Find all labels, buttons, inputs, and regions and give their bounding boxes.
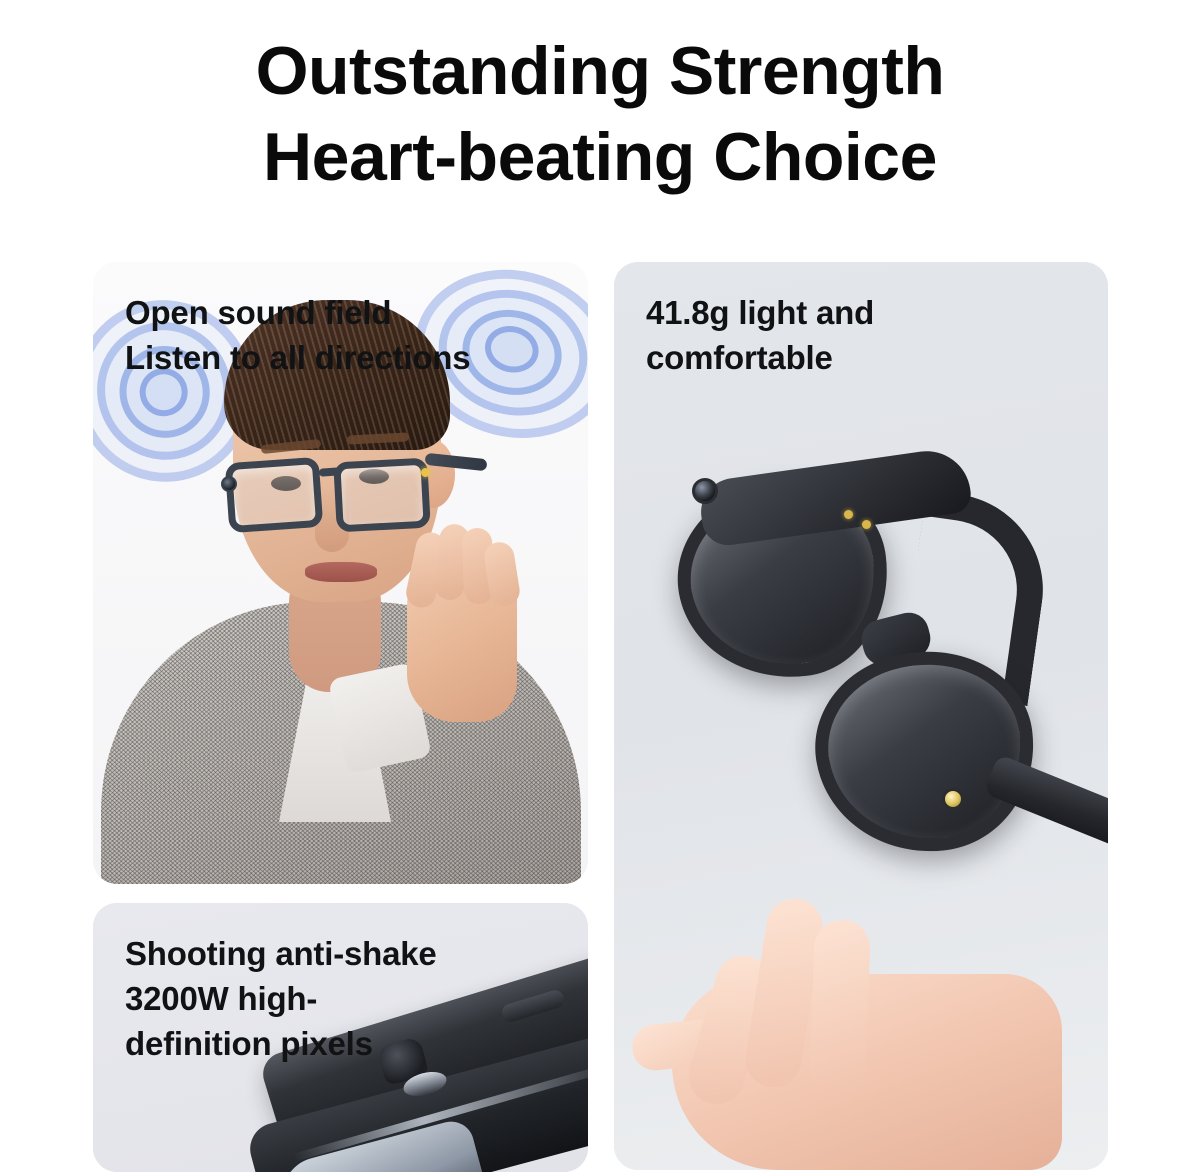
card-title-lightweight: 41.8g light and comfortable (646, 290, 874, 380)
photo-sunglasses-over-palm (614, 262, 1108, 1170)
card-title-open-sound-field: Open sound field Listen to all direction… (125, 290, 470, 380)
glasses-camera-icon (221, 476, 237, 492)
glasses-bridge (319, 467, 342, 477)
page-title: Outstanding Strength Heart-beating Choic… (0, 28, 1200, 200)
feature-card-open-sound-field[interactable]: Open sound field Listen to all direction… (93, 262, 588, 884)
open-hand-palm (616, 862, 1086, 1170)
mouth (305, 562, 377, 582)
feature-card-anti-shake[interactable]: Shooting anti-shake 3200W high- definiti… (93, 903, 588, 1172)
feature-card-lightweight[interactable]: 41.8g light and comfortable (614, 262, 1108, 1170)
sunglasses-led-indicator-icon (942, 788, 964, 810)
hand-resting-on-cheek (393, 524, 525, 724)
page-title-line-1: Outstanding Strength (0, 28, 1200, 114)
card-title-anti-shake: Shooting anti-shake 3200W high- definiti… (125, 931, 437, 1066)
glasses-temple-arm (425, 453, 488, 471)
glasses-lens-right (333, 458, 431, 533)
glasses-lens-left (225, 457, 324, 533)
sunglasses-indicator-dot-icon (862, 520, 871, 529)
product-feature-page: Outstanding Strength Heart-beating Choic… (0, 0, 1200, 1172)
sunglasses-indicator-dot-icon (844, 510, 853, 519)
glasses-led-indicator-icon (421, 468, 430, 477)
page-title-line-2: Heart-beating Choice (0, 114, 1200, 200)
finger (809, 919, 871, 1097)
sunglasses-camera-icon (692, 478, 718, 504)
smart-sunglasses-product (666, 466, 1086, 896)
